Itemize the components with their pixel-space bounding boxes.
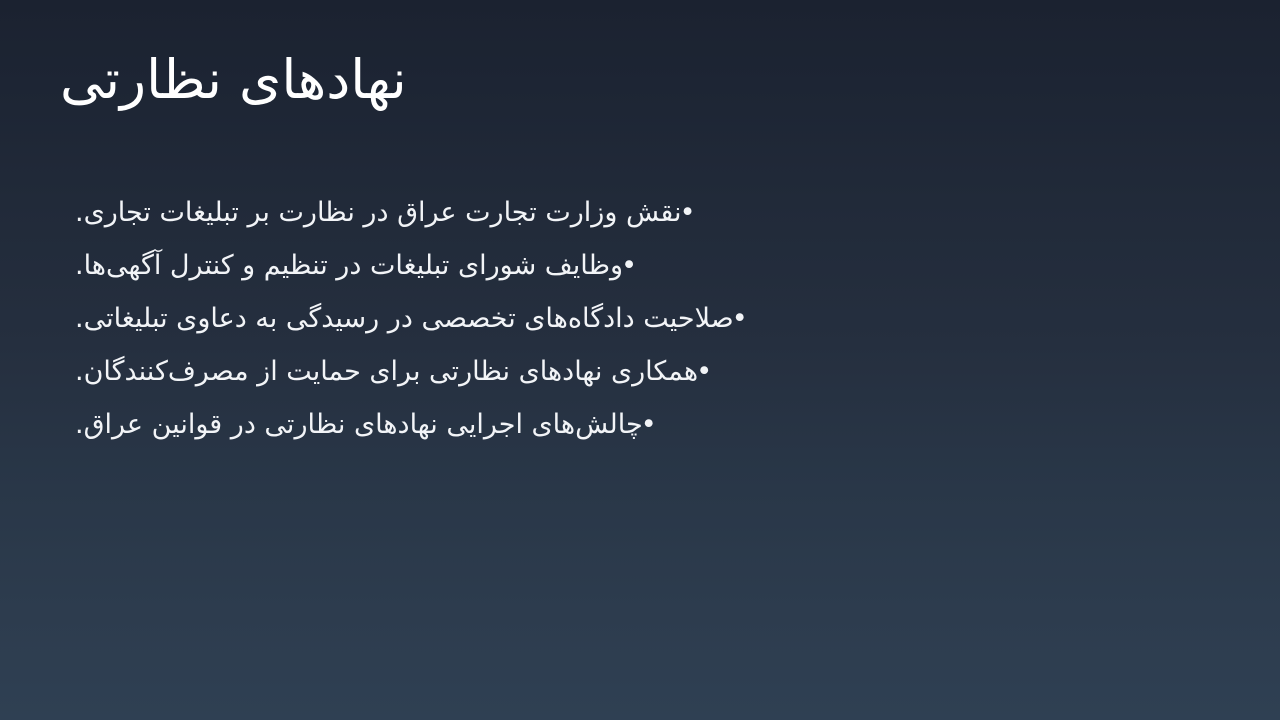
bullet-marker-icon: • xyxy=(643,398,657,451)
list-item-text: نقش وزارت تجارت عراق در نظارت بر تبلیغات… xyxy=(75,186,682,239)
presentation-slide: نهادهای نظارتی •نقش وزارت تجارت عراق در … xyxy=(0,0,1280,720)
list-item-text: چالش‌های اجرایی نهادهای نظارتی در قوانین… xyxy=(75,398,643,451)
bullet-list: •نقش وزارت تجارت عراق در نظارت بر تبلیغا… xyxy=(55,186,1225,451)
list-item-text: همکاری نهادهای نظارتی برای حمایت از مصرف… xyxy=(75,345,698,398)
page-title: نهادهای نظارتی xyxy=(60,48,1220,112)
list-item: •چالش‌های اجرایی نهادهای نظارتی در قوانی… xyxy=(55,398,1225,451)
bullet-marker-icon: • xyxy=(734,292,748,345)
list-item-text: صلاحیت دادگاه‌های تخصصی در رسیدگی به دعا… xyxy=(75,292,734,345)
bullet-marker-icon: • xyxy=(682,186,696,239)
bullet-marker-icon: • xyxy=(623,239,637,292)
bullet-marker-icon: • xyxy=(698,345,712,398)
list-item: •صلاحیت دادگاه‌های تخصصی در رسیدگی به دع… xyxy=(55,292,1225,345)
list-item: •وظایف شورای تبلیغات در تنظیم و کنترل آگ… xyxy=(55,239,1225,292)
list-item: •نقش وزارت تجارت عراق در نظارت بر تبلیغا… xyxy=(55,186,1225,239)
list-item-text: وظایف شورای تبلیغات در تنظیم و کنترل آگه… xyxy=(75,239,623,292)
list-item: •همکاری نهادهای نظارتی برای حمایت از مصر… xyxy=(55,345,1225,398)
